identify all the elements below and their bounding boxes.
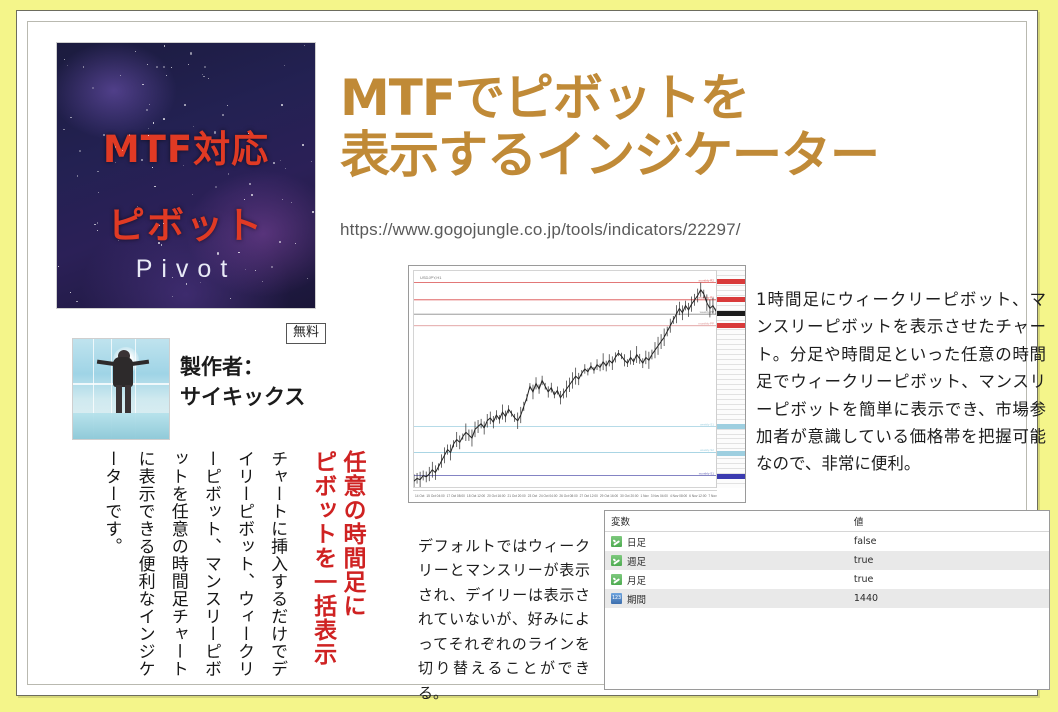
setting-variable-name: 月足	[627, 573, 646, 587]
star-dot	[222, 114, 224, 116]
bool-checkbox-icon	[611, 536, 622, 547]
star-dot	[166, 75, 167, 76]
settings-table: 変数 値 日足false週足true月足true123期間1440	[605, 511, 1049, 608]
star-dot	[153, 122, 155, 124]
price-axis-tick	[717, 468, 745, 469]
star-dot	[190, 52, 192, 54]
star-dot	[137, 206, 138, 207]
column-header-value: 値	[848, 511, 1049, 532]
star-dot	[238, 252, 239, 253]
star-dot	[97, 230, 98, 231]
star-dot	[192, 194, 193, 195]
star-dot	[230, 298, 231, 299]
price-series: monthly-R2monthly-R1weekly-PPmonthly-PPw…	[414, 271, 716, 487]
time-axis-label: 17 Oct 08:00	[447, 494, 465, 498]
chart-price-axis	[716, 270, 745, 488]
settings-description: デフォルトではウィークリーとマンスリーが表示され、デイリーは表示されていないが、…	[418, 534, 590, 705]
star-dot	[64, 59, 65, 60]
time-axis-label: 14 Oct	[415, 494, 424, 498]
star-dot	[183, 165, 184, 166]
price-axis-tick	[717, 369, 745, 370]
star-dot	[156, 66, 158, 68]
star-dot	[159, 225, 160, 226]
star-dot	[115, 162, 116, 163]
price-axis-chip	[717, 297, 745, 302]
price-axis-tick	[717, 374, 745, 375]
setting-value[interactable]: 1440	[848, 589, 1049, 608]
star-dot	[188, 64, 189, 65]
price-axis-tick	[717, 359, 745, 360]
pivot-line-label: monthly-S1	[699, 471, 715, 475]
avatar-glass-floor	[73, 413, 169, 439]
price-axis-tick	[717, 285, 745, 286]
author-label-line1: 製作者：	[180, 352, 305, 382]
price-axis-tick	[717, 329, 745, 330]
price-axis-tick	[717, 448, 745, 449]
price-axis-tick	[717, 354, 745, 355]
star-dot	[148, 128, 149, 129]
star-dot	[164, 45, 165, 46]
table-row[interactable]: 週足true	[605, 551, 1049, 570]
time-axis-label: 18 Oct 12:00	[467, 494, 485, 498]
star-dot	[281, 104, 283, 106]
star-dot	[76, 301, 77, 302]
star-dot	[203, 76, 205, 78]
star-dot	[163, 66, 165, 68]
star-dot	[149, 104, 150, 105]
page-title-line1: MTFでピボットを	[340, 70, 1000, 127]
star-dot	[120, 75, 121, 76]
time-axis-label: 6 Nov 12:00	[689, 494, 706, 498]
price-axis-tick	[717, 443, 745, 444]
author-name: サイキックス	[180, 382, 305, 412]
avatar-leg-right	[125, 385, 131, 413]
star-dot	[92, 87, 94, 89]
setting-variable-name: 期間	[627, 592, 646, 606]
star-dot	[147, 64, 148, 65]
star-dot	[98, 192, 100, 194]
settings-panel: 変数 値 日足false週足true月足true123期間1440	[604, 510, 1050, 690]
price-axis-tick	[717, 334, 745, 335]
star-dot	[273, 162, 274, 163]
pivot-line-label: weekly-S1	[700, 422, 714, 426]
price-axis-tick	[717, 275, 745, 276]
star-dot	[58, 266, 59, 267]
vertical-headline-line1: 任意の時間足に	[337, 450, 366, 682]
price-axis-chip	[717, 323, 745, 328]
price-axis-tick	[717, 364, 745, 365]
star-dot	[70, 292, 71, 293]
price-axis-tick	[717, 379, 745, 380]
star-dot	[146, 109, 148, 111]
star-dot	[142, 84, 143, 85]
pivot-line-label: weekly-S2	[700, 448, 714, 452]
star-dot	[152, 167, 153, 168]
star-dot	[171, 67, 173, 69]
poster-page: MTF対応 ピボット Pivot 無料	[0, 0, 1058, 712]
thumbnail-subtitle: Pivot	[57, 255, 315, 284]
pivot-line-label: monthly-R2	[699, 278, 715, 282]
star-dot	[215, 186, 217, 188]
star-dot	[304, 45, 305, 46]
chart-description: 1時間足にウィークリーピボット、マンスリーピボットを表示させたチャート。分足や時…	[756, 286, 1046, 478]
star-dot	[161, 244, 163, 246]
star-dot	[94, 224, 96, 226]
star-dot	[227, 105, 228, 106]
table-row[interactable]: 月足true	[605, 570, 1049, 589]
star-dot	[148, 135, 149, 136]
star-dot	[208, 78, 209, 79]
number-123-icon: 123	[611, 593, 622, 604]
product-url[interactable]: https://www.gogojungle.co.jp/tools/indic…	[340, 220, 741, 240]
price-axis-tick	[717, 270, 745, 271]
setting-variable-name: 週足	[627, 554, 646, 568]
price-axis-tick	[717, 394, 745, 395]
pivot-line-label: monthly-PP	[698, 322, 714, 326]
star-dot	[311, 161, 312, 162]
star-dot	[79, 150, 81, 152]
star-dot	[158, 242, 160, 244]
price-axis-chip	[717, 451, 745, 456]
setting-variable-cell: 週足	[605, 551, 848, 570]
star-dot	[204, 66, 206, 68]
price-axis-chip	[717, 311, 745, 316]
star-dot	[83, 66, 85, 68]
bool-checkbox-icon	[611, 574, 622, 585]
time-axis-label: 21 Oct 20:00	[507, 494, 525, 498]
price-axis-tick	[717, 434, 745, 435]
star-dot	[118, 240, 119, 241]
price-badge: 無料	[286, 323, 326, 344]
settings-table-body: 日足false週足true月足true123期間1440	[605, 532, 1049, 609]
time-axis-label: 26 Oct 08:00	[559, 494, 577, 498]
star-dot	[248, 133, 249, 134]
time-axis-label: 23 Oct	[528, 494, 537, 498]
price-axis-tick	[717, 320, 745, 321]
price-axis-chip	[717, 279, 745, 284]
star-dot	[262, 281, 263, 282]
avatar-body	[113, 357, 133, 387]
chart-symbol-label: USDJPY,H1	[420, 275, 442, 280]
star-dot	[135, 51, 136, 52]
chart-plot-area: USDJPY,H1 monthly-R2monthly-R1weekly-PPm…	[413, 270, 717, 488]
time-axis-label: 20 Oct 16:00	[487, 494, 505, 498]
price-axis-tick	[717, 463, 745, 464]
chart-time-axis: 14 Oct15 Oct 04:0017 Oct 08:0018 Oct 12:…	[413, 490, 717, 501]
product-thumbnail: MTF対応 ピボット Pivot	[56, 42, 316, 309]
thumbnail-title-line1: MTF対応	[57, 119, 315, 173]
poster-card-inner: MTF対応 ピボット Pivot 無料	[27, 21, 1027, 685]
setting-variable-cell: 月足	[605, 570, 848, 589]
price-axis-tick	[717, 344, 745, 345]
price-axis-tick	[717, 409, 745, 410]
star-dot	[228, 173, 230, 175]
star-dot	[154, 186, 155, 187]
price-axis-tick	[717, 305, 745, 306]
vertical-body-text: チャートに挿入するだけでデイリーピボット、ウィークリーピボット、マンスリーピボッ…	[94, 450, 293, 682]
price-axis-chip	[717, 474, 745, 479]
star-dot	[184, 104, 186, 106]
price-axis-tick	[717, 399, 745, 400]
setting-value[interactable]: true	[848, 551, 1049, 570]
time-axis-label: 24 Oct 04:00	[539, 494, 557, 498]
vertical-headline: 任意の時間足に ピボットを一括表示	[307, 450, 366, 682]
vertical-text-block: 任意の時間足に ピボットを一括表示 チャートに挿入するだけでデイリーピボット、ウ…	[64, 450, 370, 682]
price-axis-tick	[717, 458, 745, 459]
price-axis-chip	[717, 424, 745, 429]
table-header-row: 変数 値	[605, 511, 1049, 532]
star-dot	[202, 74, 203, 75]
price-axis-tick	[717, 419, 745, 420]
star-dot	[122, 150, 123, 151]
time-axis-label: 30 Oct 20:00	[620, 494, 638, 498]
price-axis-tick	[717, 384, 745, 385]
author-label: 製作者： サイキックス	[180, 352, 305, 413]
avatar-leg-left	[116, 385, 122, 413]
time-axis-label: 3 Nov 04:00	[651, 494, 668, 498]
time-axis-label: 4 Nov 08:00	[670, 494, 687, 498]
column-header-variable: 変数	[605, 511, 848, 532]
vertical-headline-line2: ピボットを一括表示	[307, 450, 336, 682]
time-axis-label: 29 Oct 16:00	[600, 494, 618, 498]
price-axis-tick	[717, 438, 745, 439]
star-dot	[77, 175, 79, 177]
time-axis-label: 27 Oct 12:00	[580, 494, 598, 498]
setting-value[interactable]: false	[848, 532, 1049, 552]
price-axis-tick	[717, 389, 745, 390]
star-dot	[163, 223, 164, 224]
star-dot	[285, 168, 286, 169]
poster-card: MTF対応 ピボット Pivot 無料	[16, 10, 1038, 696]
star-dot	[307, 278, 308, 279]
star-dot	[245, 269, 246, 270]
price-axis-tick	[717, 339, 745, 340]
price-axis-tick	[717, 404, 745, 405]
time-axis-label: 1 Nov	[640, 494, 648, 498]
setting-variable-name: 日足	[627, 535, 646, 549]
price-axis-tick	[717, 349, 745, 350]
bool-checkbox-icon	[611, 555, 622, 566]
star-dot	[172, 296, 173, 297]
table-row[interactable]: 日足false	[605, 532, 1049, 552]
star-dot	[115, 146, 116, 147]
star-dot	[217, 252, 219, 254]
time-axis-label: 7 Nov 16:00	[708, 494, 717, 498]
setting-variable-cell: 123期間	[605, 589, 848, 608]
star-dot	[200, 282, 201, 283]
star-dot	[284, 65, 285, 66]
setting-value[interactable]: true	[848, 570, 1049, 589]
star-dot	[63, 129, 64, 130]
author-avatar	[72, 338, 170, 440]
price-axis-tick	[717, 414, 745, 415]
star-dot	[312, 211, 313, 212]
thumbnail-title-line2: ピボット	[57, 195, 315, 249]
star-dot	[271, 266, 272, 267]
time-axis-label: 15 Oct 04:00	[426, 494, 444, 498]
star-dot	[244, 199, 245, 200]
price-axis-tick	[717, 483, 745, 484]
star-dot	[67, 65, 68, 66]
chart-screenshot: USDJPY,H1 monthly-R2monthly-R1weekly-PPm…	[408, 265, 746, 503]
price-axis-tick	[717, 290, 745, 291]
star-dot	[163, 118, 165, 120]
page-title-line2: 表示するインジケーター	[340, 127, 1000, 184]
page-title: MTFでピボットを 表示するインジケーター	[340, 70, 1000, 183]
table-row[interactable]: 123期間1440	[605, 589, 1049, 608]
star-dot	[251, 194, 253, 196]
star-dot	[249, 183, 251, 185]
setting-variable-cell: 日足	[605, 532, 848, 552]
